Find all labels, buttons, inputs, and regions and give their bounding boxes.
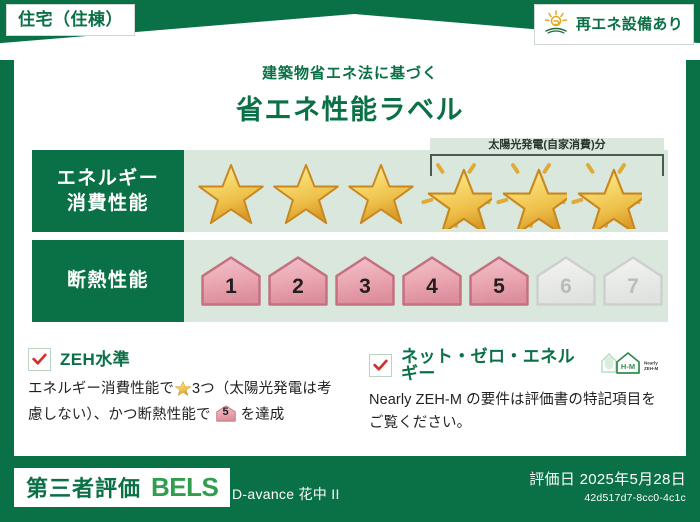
energy-consumption-row: エネルギー 消費性能 太陽光発電(自家消費)分: [32, 150, 668, 232]
third-party-label: 第三者評価: [26, 478, 141, 500]
insulation-label: 断熱性能: [32, 240, 184, 322]
sun-icon: [543, 10, 569, 39]
housing-type-label: 住宅（住棟）: [18, 10, 123, 29]
star-1: [195, 161, 267, 227]
footer-bar: 第三者評価 BELS D-avance 花中 II 評価日 2025年5月28日…: [0, 456, 700, 522]
insulation-label-text: 断熱性能: [67, 268, 149, 293]
zeh-body-part1: エネルギー消費性能で: [28, 381, 174, 397]
star-5-solar: [495, 161, 567, 227]
star-4-solar: [420, 161, 492, 227]
grade-1: 1: [200, 255, 262, 307]
housing-type-tag: 住宅（住棟）: [6, 4, 135, 36]
main-panel: 建築物省エネ法に基づく 省エネ性能ラベル エネルギー 消費性能 太陽光発電(自家…: [14, 44, 686, 456]
grade-7: 7: [602, 255, 664, 307]
star-2: [270, 161, 342, 227]
net-zero-head: ネット・ゼロ・エネルギー H-M Nearly ZEH-M: [369, 348, 660, 382]
svg-text:Nearly: Nearly: [644, 360, 658, 365]
svg-text:ZEH-M: ZEH-M: [644, 366, 658, 371]
grade-badge-number: 5: [213, 404, 239, 422]
grade-5-number: 5: [493, 275, 505, 307]
energy-stars-area: 太陽光発電(自家消費)分: [184, 150, 668, 232]
energy-consumption-label: エネルギー 消費性能: [32, 150, 184, 232]
zeh-m-house-icon: H-M Nearly ZEH-M: [598, 349, 660, 382]
renewable-energy-label: 再エネ設備あり: [576, 17, 683, 32]
bels-logo: BELS: [151, 474, 218, 500]
title-block: 建築物省エネ法に基づく 省エネ性能ラベル: [14, 62, 686, 127]
star-6-solar: [570, 161, 642, 227]
zeh-body-part3: を達成: [241, 407, 285, 423]
grade-3-number: 3: [359, 275, 371, 307]
grade-7-number: 7: [627, 275, 639, 307]
building-name: D-avance 花中 II: [232, 484, 340, 504]
star-rating: [184, 161, 642, 227]
grade-2: 2: [267, 255, 329, 307]
page-title: 省エネ性能ラベル: [14, 88, 686, 127]
insulation-row: 断熱性能 1 2 3: [32, 240, 668, 322]
solar-caption: 太陽光発電(自家消費)分: [430, 138, 664, 153]
grade-badge-icon: 5: [213, 405, 239, 422]
grade-6-number: 6: [560, 275, 572, 307]
grade-2-number: 2: [292, 275, 304, 307]
grade-6: 6: [535, 255, 597, 307]
renewable-energy-badge: 再エネ設備あり: [534, 4, 694, 45]
evaluation-id: 42d517d7-8cc0-4c1c: [529, 492, 686, 504]
grade-1-number: 1: [225, 275, 237, 307]
check-icon: [28, 348, 51, 371]
evaluation-date: 評価日 2025年5月28日: [529, 468, 686, 489]
zeh-standard-title: ZEH水準: [60, 351, 130, 368]
zeh-standard-head: ZEH水準: [28, 348, 337, 371]
energy-label-line1: エネルギー: [57, 166, 160, 191]
ratings-area: エネルギー 消費性能 太陽光発電(自家消費)分: [32, 150, 668, 330]
grade-4-number: 4: [426, 275, 438, 307]
svg-text:H-M: H-M: [621, 362, 635, 371]
grade-scale: 1 2 3 4: [184, 255, 664, 307]
grade-3: 3: [334, 255, 396, 307]
star-3: [345, 161, 417, 227]
notes-area: ZEH水準 エネルギー消費性能で3つ（太陽光発電は考慮しない）、かつ断熱性能で5…: [28, 348, 674, 436]
star-icon: [175, 384, 191, 400]
net-zero-body: Nearly ZEH-M の要件は評価書の特記項目をご覧ください。: [369, 389, 660, 436]
energy-performance-label: 住宅（住棟） 再エネ設備あり 建築物省エネ法に基づく 省エネ性: [0, 0, 700, 522]
insulation-grades-area: 1 2 3 4: [184, 240, 668, 322]
energy-label-line2: 消費性能: [67, 191, 149, 216]
net-zero-title: ネット・ゼロ・エネルギー: [401, 348, 581, 382]
grade-5: 5: [468, 255, 530, 307]
bels-plate: 第三者評価 BELS: [14, 468, 230, 507]
net-zero-energy-note: ネット・ゼロ・エネルギー H-M Nearly ZEH-M: [351, 348, 674, 436]
zeh-standard-body: エネルギー消費性能で3つ（太陽光発電は考慮しない）、かつ断熱性能で5を達成: [28, 378, 337, 428]
grade-4: 4: [401, 255, 463, 307]
zeh-standard-note: ZEH水準 エネルギー消費性能で3つ（太陽光発電は考慮しない）、かつ断熱性能で5…: [28, 348, 351, 436]
check-icon: [369, 354, 392, 377]
footer-meta: 評価日 2025年5月28日 42d517d7-8cc0-4c1c: [529, 468, 686, 504]
title-subtitle: 建築物省エネ法に基づく: [14, 62, 686, 83]
